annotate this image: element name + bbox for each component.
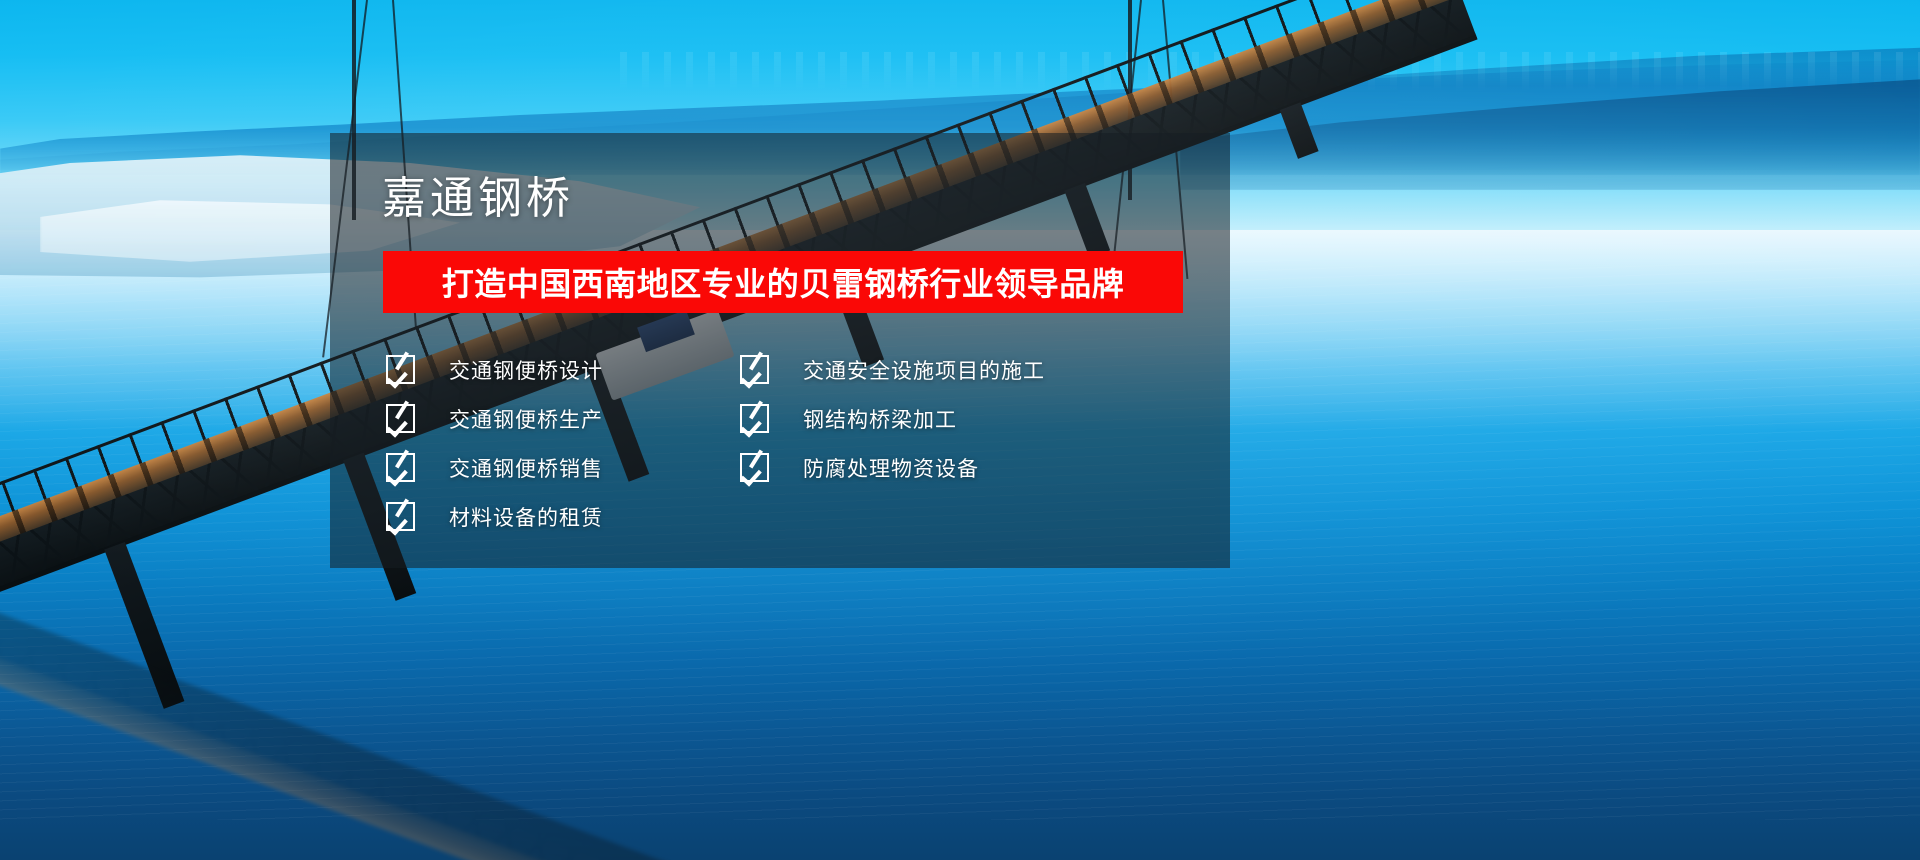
checkbox-checked-icon [386, 404, 415, 433]
list-item[interactable]: 材料设备的租赁 [386, 492, 716, 541]
checkbox-checked-icon [740, 453, 769, 482]
checkbox-checked-icon [740, 355, 769, 384]
list-item-label: 交通钢便桥生产 [449, 404, 603, 434]
list-item-label: 交通钢便桥设计 [449, 355, 603, 385]
hero-overlay-panel: 嘉通钢桥 打造中国西南地区专业的贝雷钢桥行业领导品牌 交通钢便桥设计 交通安全设… [330, 133, 1230, 568]
list-item-label: 交通钢便桥销售 [449, 453, 603, 483]
list-item-label: 材料设备的租赁 [449, 502, 603, 532]
page-title: 嘉通钢桥 [382, 177, 1230, 221]
checkbox-checked-icon [386, 502, 415, 531]
list-item[interactable]: 钢结构桥梁加工 [740, 394, 1070, 443]
list-item[interactable]: 交通钢便桥设计 [386, 345, 716, 394]
feature-list: 交通钢便桥设计 交通安全设施项目的施工 交通钢便桥生产 钢结构桥梁加工 交通钢便… [386, 345, 1206, 541]
list-item[interactable]: 交通钢便桥生产 [386, 394, 716, 443]
list-item[interactable]: 防腐处理物资设备 [740, 443, 1070, 492]
bridge-pier [1280, 102, 1319, 158]
tagline-text: 打造中国西南地区专业的贝雷钢桥行业领导品牌 [442, 259, 1125, 305]
list-item[interactable]: 交通钢便桥销售 [386, 443, 716, 492]
checkbox-checked-icon [386, 453, 415, 482]
tagline-banner: 打造中国西南地区专业的贝雷钢桥行业领导品牌 [383, 251, 1183, 313]
list-item-label: 钢结构桥梁加工 [803, 404, 957, 434]
checkbox-checked-icon [386, 355, 415, 384]
checkbox-checked-icon [740, 404, 769, 433]
list-item-label: 交通安全设施项目的施工 [803, 355, 1045, 385]
hero-banner: 嘉通钢桥 打造中国西南地区专业的贝雷钢桥行业领导品牌 交通钢便桥设计 交通安全设… [0, 0, 1920, 860]
list-item[interactable]: 交通安全设施项目的施工 [740, 345, 1070, 394]
list-item-label: 防腐处理物资设备 [803, 453, 979, 483]
